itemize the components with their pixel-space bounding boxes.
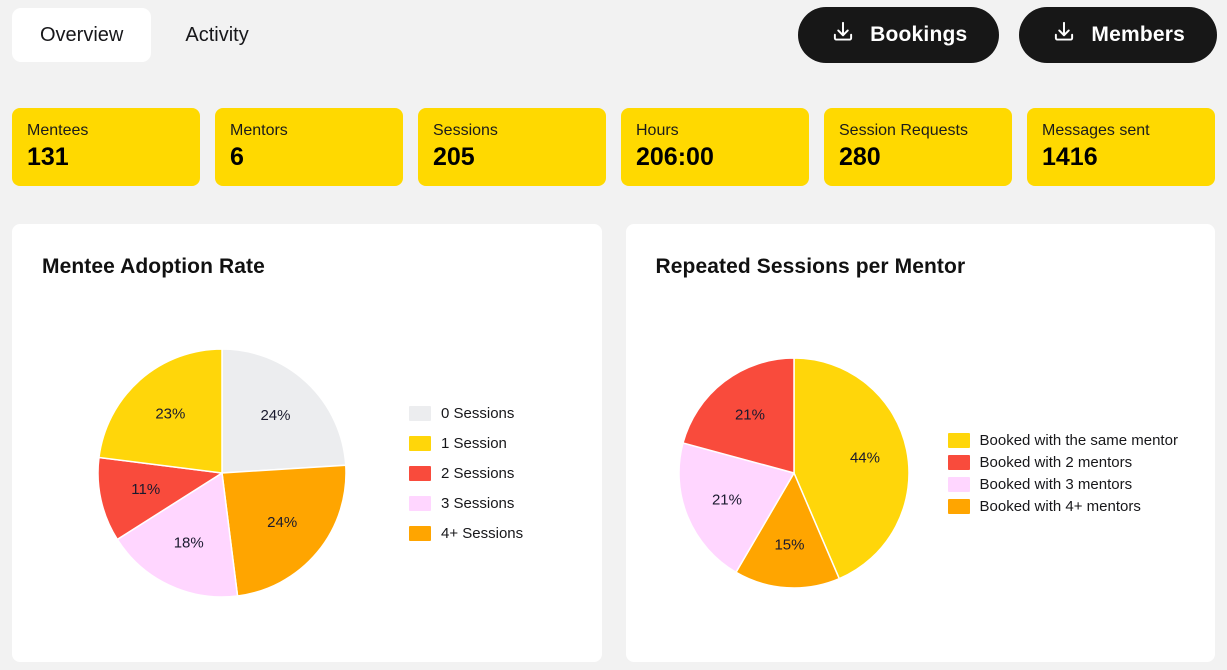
pie-slice-label: 24% bbox=[267, 514, 297, 531]
chart-body: 24%24%18%11%23% 0 Sessions1 Session2 Ses… bbox=[12, 302, 602, 644]
pie-svg: 44%15%21%21% bbox=[678, 357, 910, 589]
stat-value: 206:00 bbox=[636, 142, 794, 173]
download-icon bbox=[1051, 19, 1077, 51]
chart-card-mentee-adoption-rate: Mentee Adoption Rate 24%24%18%11%23% 0 S… bbox=[12, 224, 602, 662]
stat-label: Mentees bbox=[27, 121, 185, 140]
pie-chart-mentee-adoption: 24%24%18%11%23% bbox=[97, 348, 347, 598]
stat-label: Messages sent bbox=[1042, 121, 1200, 140]
download-members-label: Members bbox=[1091, 23, 1185, 47]
stat-value: 6 bbox=[230, 142, 388, 173]
stat-card-hours: Hours 206:00 bbox=[621, 108, 809, 186]
stat-label: Mentors bbox=[230, 121, 388, 140]
legend-item[interactable]: 4+ Sessions bbox=[409, 526, 523, 541]
tab-activity[interactable]: Activity bbox=[157, 8, 276, 62]
legend-item[interactable]: 2 Sessions bbox=[409, 466, 523, 481]
legend-label: 3 Sessions bbox=[441, 496, 514, 511]
stat-label: Session Requests bbox=[839, 121, 997, 140]
pie-slice-label: 11% bbox=[131, 481, 160, 498]
legend-swatch bbox=[948, 433, 970, 448]
legend-label: Booked with the same mentor bbox=[980, 433, 1178, 448]
legend-label: 1 Session bbox=[441, 436, 507, 451]
legend-item[interactable]: Booked with 2 mentors bbox=[948, 455, 1178, 470]
header-actions: Bookings Members bbox=[798, 7, 1217, 63]
legend-label: Booked with 2 mentors bbox=[980, 455, 1133, 470]
legend-item[interactable]: Booked with the same mentor bbox=[948, 433, 1178, 448]
pie-slice-label: 23% bbox=[155, 405, 185, 422]
pie-slice-label: 18% bbox=[174, 535, 204, 552]
pie-slice-label: 15% bbox=[774, 536, 804, 553]
legend-item[interactable]: Booked with 3 mentors bbox=[948, 477, 1178, 492]
pie-slice-label: 21% bbox=[734, 406, 764, 423]
chart-body: 44%15%21%21% Booked with the same mentor… bbox=[626, 302, 1216, 644]
stat-card-session-requests: Session Requests 280 bbox=[824, 108, 1012, 186]
legend-item[interactable]: 1 Session bbox=[409, 436, 523, 451]
pie-slice-label: 21% bbox=[711, 491, 741, 508]
pie-chart-repeated-sessions: 44%15%21%21% bbox=[678, 357, 910, 589]
legend-label: 2 Sessions bbox=[441, 466, 514, 481]
stats-row: Mentees 131 Mentors 6 Sessions 205 Hours… bbox=[12, 108, 1215, 186]
pie-slice-label: 24% bbox=[260, 407, 290, 424]
chart-title: Mentee Adoption Rate bbox=[42, 256, 572, 277]
pie-svg: 24%24%18%11%23% bbox=[97, 348, 347, 598]
legend-label: Booked with 4+ mentors bbox=[980, 499, 1141, 514]
stat-value: 280 bbox=[839, 142, 997, 173]
legend-item[interactable]: Booked with 4+ mentors bbox=[948, 499, 1178, 514]
stat-card-sessions: Sessions 205 bbox=[418, 108, 606, 186]
legend-item[interactable]: 3 Sessions bbox=[409, 496, 523, 511]
legend-swatch bbox=[948, 455, 970, 470]
chart-title: Repeated Sessions per Mentor bbox=[656, 256, 1186, 277]
stat-label: Hours bbox=[636, 121, 794, 140]
chart-legend: 0 Sessions1 Session2 Sessions3 Sessions4… bbox=[409, 406, 523, 541]
download-bookings-button[interactable]: Bookings bbox=[798, 7, 999, 63]
pie-slice-label: 44% bbox=[849, 449, 879, 466]
page-header: Overview Activity Bookings Memb bbox=[0, 0, 1227, 76]
stat-card-mentees: Mentees 131 bbox=[12, 108, 200, 186]
tab-bar: Overview Activity bbox=[12, 8, 277, 62]
chart-legend: Booked with the same mentorBooked with 2… bbox=[948, 433, 1178, 514]
download-bookings-label: Bookings bbox=[870, 23, 967, 47]
legend-label: 0 Sessions bbox=[441, 406, 514, 421]
stat-card-mentors: Mentors 6 bbox=[215, 108, 403, 186]
legend-swatch bbox=[409, 526, 431, 541]
charts-row: Mentee Adoption Rate 24%24%18%11%23% 0 S… bbox=[12, 224, 1215, 662]
legend-swatch bbox=[409, 496, 431, 511]
download-members-button[interactable]: Members bbox=[1019, 7, 1217, 63]
legend-swatch bbox=[409, 466, 431, 481]
stat-value: 205 bbox=[433, 142, 591, 173]
stat-label: Sessions bbox=[433, 121, 591, 140]
legend-label: 4+ Sessions bbox=[441, 526, 523, 541]
legend-swatch bbox=[948, 499, 970, 514]
stat-card-messages-sent: Messages sent 1416 bbox=[1027, 108, 1215, 186]
legend-swatch bbox=[948, 477, 970, 492]
stat-value: 1416 bbox=[1042, 142, 1200, 173]
legend-swatch bbox=[409, 436, 431, 451]
legend-item[interactable]: 0 Sessions bbox=[409, 406, 523, 421]
chart-card-repeated-sessions: Repeated Sessions per Mentor 44%15%21%21… bbox=[626, 224, 1216, 662]
tab-overview[interactable]: Overview bbox=[12, 8, 151, 62]
stat-value: 131 bbox=[27, 142, 185, 173]
download-icon bbox=[830, 19, 856, 51]
legend-label: Booked with 3 mentors bbox=[980, 477, 1133, 492]
legend-swatch bbox=[409, 406, 431, 421]
